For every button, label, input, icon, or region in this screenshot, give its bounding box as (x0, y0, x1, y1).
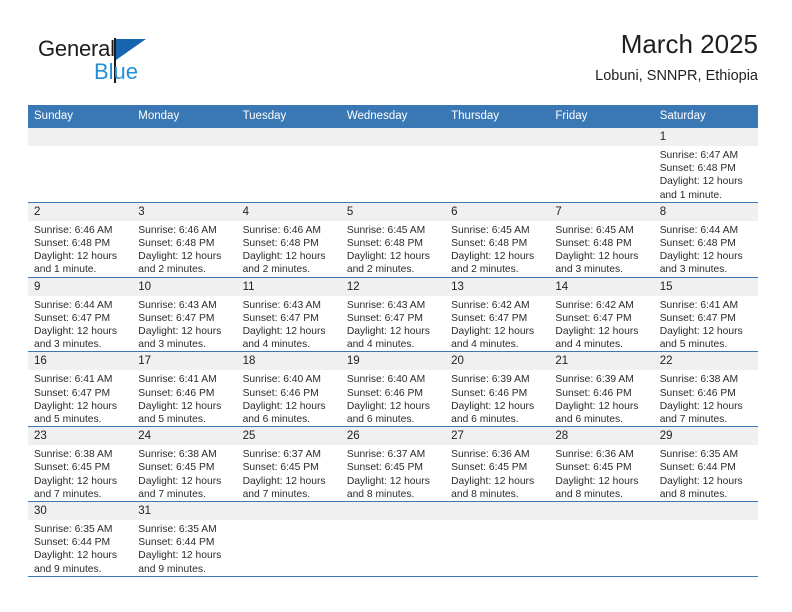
sunset-text: Sunset: 6:47 PM (347, 312, 439, 325)
daylight-text-line2: and 1 minute. (660, 189, 752, 202)
day-number: 21 (549, 352, 653, 370)
sunrise-text: Sunrise: 6:42 AM (555, 299, 647, 312)
daylight-text-line2: and 5 minutes. (138, 413, 230, 426)
calendar-week-row: 1Sunrise: 6:47 AMSunset: 6:48 PMDaylight… (28, 128, 758, 202)
day-details: Sunrise: 6:40 AMSunset: 6:46 PMDaylight:… (341, 370, 445, 426)
calendar-cell-empty (28, 128, 132, 202)
day-details: Sunrise: 6:35 AMSunset: 6:44 PMDaylight:… (654, 445, 758, 501)
daylight-text-line1: Daylight: 12 hours (660, 250, 752, 263)
daylight-text-line2: and 3 minutes. (138, 338, 230, 351)
calendar-day-cell-23[interactable]: 23Sunrise: 6:38 AMSunset: 6:45 PMDayligh… (28, 427, 132, 502)
calendar-week-row: 30Sunrise: 6:35 AMSunset: 6:44 PMDayligh… (28, 502, 758, 577)
calendar-day-cell-20[interactable]: 20Sunrise: 6:39 AMSunset: 6:46 PMDayligh… (445, 352, 549, 427)
daylight-text-line1: Daylight: 12 hours (138, 325, 230, 338)
day-details: Sunrise: 6:47 AMSunset: 6:48 PMDaylight:… (654, 146, 758, 202)
calendar-cell-empty (132, 128, 236, 202)
sunset-text: Sunset: 6:46 PM (660, 387, 752, 400)
day-details: Sunrise: 6:39 AMSunset: 6:46 PMDaylight:… (549, 370, 653, 426)
day-details: Sunrise: 6:38 AMSunset: 6:45 PMDaylight:… (132, 445, 236, 501)
day-number (341, 128, 445, 146)
daylight-text-line1: Daylight: 12 hours (243, 325, 335, 338)
daylight-text-line1: Daylight: 12 hours (451, 400, 543, 413)
day-number: 18 (237, 352, 341, 370)
sunset-text: Sunset: 6:47 PM (660, 312, 752, 325)
day-details: Sunrise: 6:36 AMSunset: 6:45 PMDaylight:… (445, 445, 549, 501)
sunset-text: Sunset: 6:48 PM (660, 237, 752, 250)
day-details: Sunrise: 6:46 AMSunset: 6:48 PMDaylight:… (237, 221, 341, 277)
daylight-text-line2: and 7 minutes. (34, 488, 126, 501)
sunset-text: Sunset: 6:47 PM (34, 312, 126, 325)
daylight-text-line1: Daylight: 12 hours (243, 400, 335, 413)
weekday-header-saturday: Saturday (654, 105, 758, 128)
daylight-text-line1: Daylight: 12 hours (555, 475, 647, 488)
calendar-cell-empty (341, 128, 445, 202)
day-number: 20 (445, 352, 549, 370)
sunset-text: Sunset: 6:44 PM (660, 461, 752, 474)
sunrise-text: Sunrise: 6:39 AM (555, 373, 647, 386)
sunrise-text: Sunrise: 6:43 AM (138, 299, 230, 312)
daylight-text-line2: and 7 minutes. (138, 488, 230, 501)
calendar-day-cell-27[interactable]: 27Sunrise: 6:36 AMSunset: 6:45 PMDayligh… (445, 427, 549, 502)
daylight-text-line2: and 2 minutes. (243, 263, 335, 276)
sunset-text: Sunset: 6:44 PM (34, 536, 126, 549)
sunset-text: Sunset: 6:47 PM (243, 312, 335, 325)
calendar-day-cell-11[interactable]: 11Sunrise: 6:43 AMSunset: 6:47 PMDayligh… (237, 277, 341, 352)
sunrise-text: Sunrise: 6:47 AM (660, 149, 752, 162)
daylight-text-line2: and 6 minutes. (347, 413, 439, 426)
calendar-header-row: SundayMondayTuesdayWednesdayThursdayFrid… (28, 105, 758, 128)
sunset-text: Sunset: 6:46 PM (451, 387, 543, 400)
sunrise-text: Sunrise: 6:40 AM (243, 373, 335, 386)
sunset-text: Sunset: 6:46 PM (347, 387, 439, 400)
general-blue-logo[interactable]: General Blue (38, 36, 198, 94)
day-details: Sunrise: 6:43 AMSunset: 6:47 PMDaylight:… (237, 296, 341, 352)
daylight-text-line1: Daylight: 12 hours (243, 250, 335, 263)
calendar-day-cell-29[interactable]: 29Sunrise: 6:35 AMSunset: 6:44 PMDayligh… (654, 427, 758, 502)
daylight-text-line1: Daylight: 12 hours (347, 250, 439, 263)
day-number: 28 (549, 427, 653, 445)
day-number: 4 (237, 203, 341, 221)
sunset-text: Sunset: 6:48 PM (138, 237, 230, 250)
day-number (445, 502, 549, 520)
daylight-text-line1: Daylight: 12 hours (138, 549, 230, 562)
sunrise-text: Sunrise: 6:38 AM (138, 448, 230, 461)
weekday-header-monday: Monday (132, 105, 236, 128)
day-details: Sunrise: 6:40 AMSunset: 6:46 PMDaylight:… (237, 370, 341, 426)
day-number: 27 (445, 427, 549, 445)
daylight-text-line1: Daylight: 12 hours (34, 250, 126, 263)
weekday-header-sunday: Sunday (28, 105, 132, 128)
day-details: Sunrise: 6:38 AMSunset: 6:46 PMDaylight:… (654, 370, 758, 426)
day-number: 8 (654, 203, 758, 221)
daylight-text-line1: Daylight: 12 hours (34, 475, 126, 488)
logo-text-blue: Blue (94, 59, 138, 85)
weekday-header-wednesday: Wednesday (341, 105, 445, 128)
day-number: 22 (654, 352, 758, 370)
day-details: Sunrise: 6:43 AMSunset: 6:47 PMDaylight:… (341, 296, 445, 352)
daylight-text-line2: and 3 minutes. (34, 338, 126, 351)
sunrise-text: Sunrise: 6:43 AM (347, 299, 439, 312)
day-details: Sunrise: 6:37 AMSunset: 6:45 PMDaylight:… (237, 445, 341, 501)
sunrise-text: Sunrise: 6:46 AM (243, 224, 335, 237)
sunset-text: Sunset: 6:47 PM (138, 312, 230, 325)
daylight-text-line1: Daylight: 12 hours (451, 475, 543, 488)
sunrise-text: Sunrise: 6:39 AM (451, 373, 543, 386)
sunset-text: Sunset: 6:48 PM (34, 237, 126, 250)
calendar-cell-empty (445, 128, 549, 202)
sunrise-text: Sunrise: 6:36 AM (451, 448, 543, 461)
daylight-text-line1: Daylight: 12 hours (555, 250, 647, 263)
sunset-text: Sunset: 6:46 PM (555, 387, 647, 400)
daylight-text-line2: and 9 minutes. (34, 563, 126, 576)
calendar-week-row: 23Sunrise: 6:38 AMSunset: 6:45 PMDayligh… (28, 427, 758, 502)
calendar-day-cell-25[interactable]: 25Sunrise: 6:37 AMSunset: 6:45 PMDayligh… (237, 427, 341, 502)
sunset-text: Sunset: 6:45 PM (555, 461, 647, 474)
daylight-text-line2: and 8 minutes. (347, 488, 439, 501)
calendar-day-cell-1[interactable]: 1Sunrise: 6:47 AMSunset: 6:48 PMDaylight… (654, 128, 758, 202)
day-number: 11 (237, 278, 341, 296)
sunrise-text: Sunrise: 6:44 AM (34, 299, 126, 312)
page-subtitle: Lobuni, SNNPR, Ethiopia (595, 66, 758, 86)
calendar-day-cell-10[interactable]: 10Sunrise: 6:43 AMSunset: 6:47 PMDayligh… (132, 277, 236, 352)
day-number (549, 502, 653, 520)
day-number (28, 128, 132, 146)
day-number (445, 128, 549, 146)
sunset-text: Sunset: 6:45 PM (451, 461, 543, 474)
day-number: 12 (341, 278, 445, 296)
calendar-day-cell-24[interactable]: 24Sunrise: 6:38 AMSunset: 6:45 PMDayligh… (132, 427, 236, 502)
calendar-day-cell-17[interactable]: 17Sunrise: 6:41 AMSunset: 6:46 PMDayligh… (132, 352, 236, 427)
daylight-text-line1: Daylight: 12 hours (138, 475, 230, 488)
day-number: 7 (549, 203, 653, 221)
title-block: March 2025 Lobuni, SNNPR, Ethiopia (595, 28, 758, 86)
daylight-text-line2: and 7 minutes. (243, 488, 335, 501)
sunrise-text: Sunrise: 6:36 AM (555, 448, 647, 461)
sunset-text: Sunset: 6:45 PM (138, 461, 230, 474)
daylight-text-line1: Daylight: 12 hours (347, 400, 439, 413)
sunrise-text: Sunrise: 6:46 AM (138, 224, 230, 237)
day-details: Sunrise: 6:37 AMSunset: 6:45 PMDaylight:… (341, 445, 445, 501)
sunrise-text: Sunrise: 6:35 AM (34, 523, 126, 536)
day-number: 30 (28, 502, 132, 520)
sunset-text: Sunset: 6:47 PM (555, 312, 647, 325)
calendar-day-cell-12[interactable]: 12Sunrise: 6:43 AMSunset: 6:47 PMDayligh… (341, 277, 445, 352)
daylight-text-line2: and 6 minutes. (451, 413, 543, 426)
daylight-text-line1: Daylight: 12 hours (34, 325, 126, 338)
calendar-cell-empty (549, 128, 653, 202)
day-details: Sunrise: 6:39 AMSunset: 6:46 PMDaylight:… (445, 370, 549, 426)
calendar-day-cell-15[interactable]: 15Sunrise: 6:41 AMSunset: 6:47 PMDayligh… (654, 277, 758, 352)
sunset-text: Sunset: 6:45 PM (34, 461, 126, 474)
sunrise-text: Sunrise: 6:43 AM (243, 299, 335, 312)
daylight-text-line2: and 2 minutes. (451, 263, 543, 276)
day-number: 26 (341, 427, 445, 445)
daylight-text-line1: Daylight: 12 hours (138, 400, 230, 413)
daylight-text-line2: and 8 minutes. (555, 488, 647, 501)
calendar-body: 1Sunrise: 6:47 AMSunset: 6:48 PMDaylight… (28, 128, 758, 576)
daylight-text-line2: and 4 minutes. (451, 338, 543, 351)
calendar-week-row: 2Sunrise: 6:46 AMSunset: 6:48 PMDaylight… (28, 202, 758, 277)
day-details: Sunrise: 6:46 AMSunset: 6:48 PMDaylight:… (132, 221, 236, 277)
day-number: 2 (28, 203, 132, 221)
day-details: Sunrise: 6:43 AMSunset: 6:47 PMDaylight:… (132, 296, 236, 352)
daylight-text-line1: Daylight: 12 hours (660, 175, 752, 188)
day-number: 14 (549, 278, 653, 296)
calendar-day-cell-7[interactable]: 7Sunrise: 6:45 AMSunset: 6:48 PMDaylight… (549, 202, 653, 277)
sunset-text: Sunset: 6:46 PM (243, 387, 335, 400)
day-details: Sunrise: 6:42 AMSunset: 6:47 PMDaylight:… (549, 296, 653, 352)
daylight-text-line2: and 6 minutes. (555, 413, 647, 426)
calendar-day-cell-14[interactable]: 14Sunrise: 6:42 AMSunset: 6:47 PMDayligh… (549, 277, 653, 352)
sunrise-text: Sunrise: 6:37 AM (243, 448, 335, 461)
calendar-day-cell-13[interactable]: 13Sunrise: 6:42 AMSunset: 6:47 PMDayligh… (445, 277, 549, 352)
daylight-text-line1: Daylight: 12 hours (660, 475, 752, 488)
sunrise-text: Sunrise: 6:41 AM (138, 373, 230, 386)
calendar-day-cell-3[interactable]: 3Sunrise: 6:46 AMSunset: 6:48 PMDaylight… (132, 202, 236, 277)
sunset-text: Sunset: 6:48 PM (451, 237, 543, 250)
calendar-day-cell-18[interactable]: 18Sunrise: 6:40 AMSunset: 6:46 PMDayligh… (237, 352, 341, 427)
daylight-text-line1: Daylight: 12 hours (555, 325, 647, 338)
day-number (549, 128, 653, 146)
daylight-text-line2: and 4 minutes. (555, 338, 647, 351)
daylight-text-line2: and 1 minute. (34, 263, 126, 276)
day-details: Sunrise: 6:41 AMSunset: 6:47 PMDaylight:… (654, 296, 758, 352)
day-details: Sunrise: 6:45 AMSunset: 6:48 PMDaylight:… (445, 221, 549, 277)
day-details: Sunrise: 6:44 AMSunset: 6:48 PMDaylight:… (654, 221, 758, 277)
sunrise-text: Sunrise: 6:35 AM (138, 523, 230, 536)
daylight-text-line2: and 5 minutes. (660, 338, 752, 351)
daylight-text-line1: Daylight: 12 hours (451, 250, 543, 263)
sunrise-text: Sunrise: 6:35 AM (660, 448, 752, 461)
day-number (341, 502, 445, 520)
sunset-text: Sunset: 6:48 PM (347, 237, 439, 250)
day-number: 15 (654, 278, 758, 296)
sunset-text: Sunset: 6:45 PM (243, 461, 335, 474)
day-number: 3 (132, 203, 236, 221)
daylight-text-line1: Daylight: 12 hours (660, 400, 752, 413)
daylight-text-line1: Daylight: 12 hours (660, 325, 752, 338)
day-number: 29 (654, 427, 758, 445)
sunset-text: Sunset: 6:45 PM (347, 461, 439, 474)
page-title: March 2025 (595, 28, 758, 60)
sunset-text: Sunset: 6:48 PM (660, 162, 752, 175)
daylight-text-line2: and 9 minutes. (138, 563, 230, 576)
day-details: Sunrise: 6:45 AMSunset: 6:48 PMDaylight:… (341, 221, 445, 277)
day-details: Sunrise: 6:38 AMSunset: 6:45 PMDaylight:… (28, 445, 132, 501)
calendar-day-cell-6[interactable]: 6Sunrise: 6:45 AMSunset: 6:48 PMDaylight… (445, 202, 549, 277)
calendar-day-cell-31[interactable]: 31Sunrise: 6:35 AMSunset: 6:44 PMDayligh… (132, 502, 236, 577)
day-number: 10 (132, 278, 236, 296)
weekday-header-friday: Friday (549, 105, 653, 128)
sunset-text: Sunset: 6:46 PM (138, 387, 230, 400)
calendar-day-cell-16[interactable]: 16Sunrise: 6:41 AMSunset: 6:47 PMDayligh… (28, 352, 132, 427)
day-number: 23 (28, 427, 132, 445)
daylight-text-line1: Daylight: 12 hours (451, 325, 543, 338)
day-number: 9 (28, 278, 132, 296)
day-number: 19 (341, 352, 445, 370)
daylight-text-line2: and 3 minutes. (555, 263, 647, 276)
sunrise-text: Sunrise: 6:38 AM (34, 448, 126, 461)
sunrise-text: Sunrise: 6:38 AM (660, 373, 752, 386)
calendar-day-cell-22[interactable]: 22Sunrise: 6:38 AMSunset: 6:46 PMDayligh… (654, 352, 758, 427)
day-details: Sunrise: 6:36 AMSunset: 6:45 PMDaylight:… (549, 445, 653, 501)
daylight-text-line2: and 2 minutes. (138, 263, 230, 276)
day-number: 5 (341, 203, 445, 221)
sunrise-text: Sunrise: 6:41 AM (660, 299, 752, 312)
logo-triangle-icon (116, 39, 146, 60)
day-number: 16 (28, 352, 132, 370)
day-number: 13 (445, 278, 549, 296)
calendar-day-cell-8[interactable]: 8Sunrise: 6:44 AMSunset: 6:48 PMDaylight… (654, 202, 758, 277)
calendar-day-cell-21[interactable]: 21Sunrise: 6:39 AMSunset: 6:46 PMDayligh… (549, 352, 653, 427)
day-number (237, 128, 341, 146)
daylight-text-line1: Daylight: 12 hours (34, 400, 126, 413)
calendar-cell-empty (654, 502, 758, 577)
day-number: 6 (445, 203, 549, 221)
day-details: Sunrise: 6:45 AMSunset: 6:48 PMDaylight:… (549, 221, 653, 277)
daylight-text-line1: Daylight: 12 hours (555, 400, 647, 413)
sunrise-text: Sunrise: 6:40 AM (347, 373, 439, 386)
daylight-text-line1: Daylight: 12 hours (347, 325, 439, 338)
sunset-text: Sunset: 6:47 PM (451, 312, 543, 325)
daylight-text-line1: Daylight: 12 hours (347, 475, 439, 488)
calendar-week-row: 9Sunrise: 6:44 AMSunset: 6:47 PMDaylight… (28, 277, 758, 352)
sunrise-text: Sunrise: 6:45 AM (451, 224, 543, 237)
calendar-day-cell-5[interactable]: 5Sunrise: 6:45 AMSunset: 6:48 PMDaylight… (341, 202, 445, 277)
sunrise-text: Sunrise: 6:45 AM (347, 224, 439, 237)
daylight-text-line1: Daylight: 12 hours (243, 475, 335, 488)
calendar-day-cell-9[interactable]: 9Sunrise: 6:44 AMSunset: 6:47 PMDaylight… (28, 277, 132, 352)
daylight-text-line1: Daylight: 12 hours (138, 250, 230, 263)
calendar-day-cell-28[interactable]: 28Sunrise: 6:36 AMSunset: 6:45 PMDayligh… (549, 427, 653, 502)
calendar-week-row: 16Sunrise: 6:41 AMSunset: 6:47 PMDayligh… (28, 352, 758, 427)
calendar-cell-empty (237, 502, 341, 577)
day-details: Sunrise: 6:42 AMSunset: 6:47 PMDaylight:… (445, 296, 549, 352)
sunset-text: Sunset: 6:48 PM (243, 237, 335, 250)
daylight-text-line1: Daylight: 12 hours (34, 549, 126, 562)
daylight-text-line2: and 2 minutes. (347, 263, 439, 276)
day-details: Sunrise: 6:44 AMSunset: 6:47 PMDaylight:… (28, 296, 132, 352)
daylight-text-line2: and 8 minutes. (451, 488, 543, 501)
daylight-text-line2: and 4 minutes. (347, 338, 439, 351)
day-details: Sunrise: 6:46 AMSunset: 6:48 PMDaylight:… (28, 221, 132, 277)
calendar-day-cell-19[interactable]: 19Sunrise: 6:40 AMSunset: 6:46 PMDayligh… (341, 352, 445, 427)
sunrise-text: Sunrise: 6:46 AM (34, 224, 126, 237)
sunrise-text: Sunrise: 6:44 AM (660, 224, 752, 237)
weekday-header-thursday: Thursday (445, 105, 549, 128)
sunrise-text: Sunrise: 6:41 AM (34, 373, 126, 386)
sunrise-text: Sunrise: 6:45 AM (555, 224, 647, 237)
calendar-cell-empty (237, 128, 341, 202)
weekday-header-tuesday: Tuesday (237, 105, 341, 128)
sunrise-text: Sunrise: 6:37 AM (347, 448, 439, 461)
daylight-text-line2: and 7 minutes. (660, 413, 752, 426)
calendar-cell-empty (341, 502, 445, 577)
daylight-text-line2: and 5 minutes. (34, 413, 126, 426)
page-header: General Blue March 2025 Lobuni, SNNPR, E… (28, 28, 758, 100)
day-number (132, 128, 236, 146)
calendar-day-cell-30[interactable]: 30Sunrise: 6:35 AMSunset: 6:44 PMDayligh… (28, 502, 132, 577)
sunset-text: Sunset: 6:44 PM (138, 536, 230, 549)
calendar-table: SundayMondayTuesdayWednesdayThursdayFrid… (28, 105, 758, 577)
day-number (654, 502, 758, 520)
day-details: Sunrise: 6:41 AMSunset: 6:46 PMDaylight:… (132, 370, 236, 426)
sunrise-text: Sunrise: 6:42 AM (451, 299, 543, 312)
calendar-day-cell-2[interactable]: 2Sunrise: 6:46 AMSunset: 6:48 PMDaylight… (28, 202, 132, 277)
sunset-text: Sunset: 6:47 PM (34, 387, 126, 400)
day-number: 31 (132, 502, 236, 520)
daylight-text-line2: and 8 minutes. (660, 488, 752, 501)
day-number: 25 (237, 427, 341, 445)
day-number: 24 (132, 427, 236, 445)
daylight-text-line2: and 3 minutes. (660, 263, 752, 276)
calendar-day-cell-4[interactable]: 4Sunrise: 6:46 AMSunset: 6:48 PMDaylight… (237, 202, 341, 277)
daylight-text-line2: and 4 minutes. (243, 338, 335, 351)
calendar-day-cell-26[interactable]: 26Sunrise: 6:37 AMSunset: 6:45 PMDayligh… (341, 427, 445, 502)
day-number: 1 (654, 128, 758, 146)
calendar-page: General Blue March 2025 Lobuni, SNNPR, E… (0, 0, 792, 612)
day-number (237, 502, 341, 520)
day-details: Sunrise: 6:35 AMSunset: 6:44 PMDaylight:… (28, 520, 132, 576)
sunset-text: Sunset: 6:48 PM (555, 237, 647, 250)
day-details: Sunrise: 6:35 AMSunset: 6:44 PMDaylight:… (132, 520, 236, 576)
calendar-cell-empty (445, 502, 549, 577)
day-details: Sunrise: 6:41 AMSunset: 6:47 PMDaylight:… (28, 370, 132, 426)
calendar-cell-empty (549, 502, 653, 577)
daylight-text-line2: and 6 minutes. (243, 413, 335, 426)
day-number: 17 (132, 352, 236, 370)
